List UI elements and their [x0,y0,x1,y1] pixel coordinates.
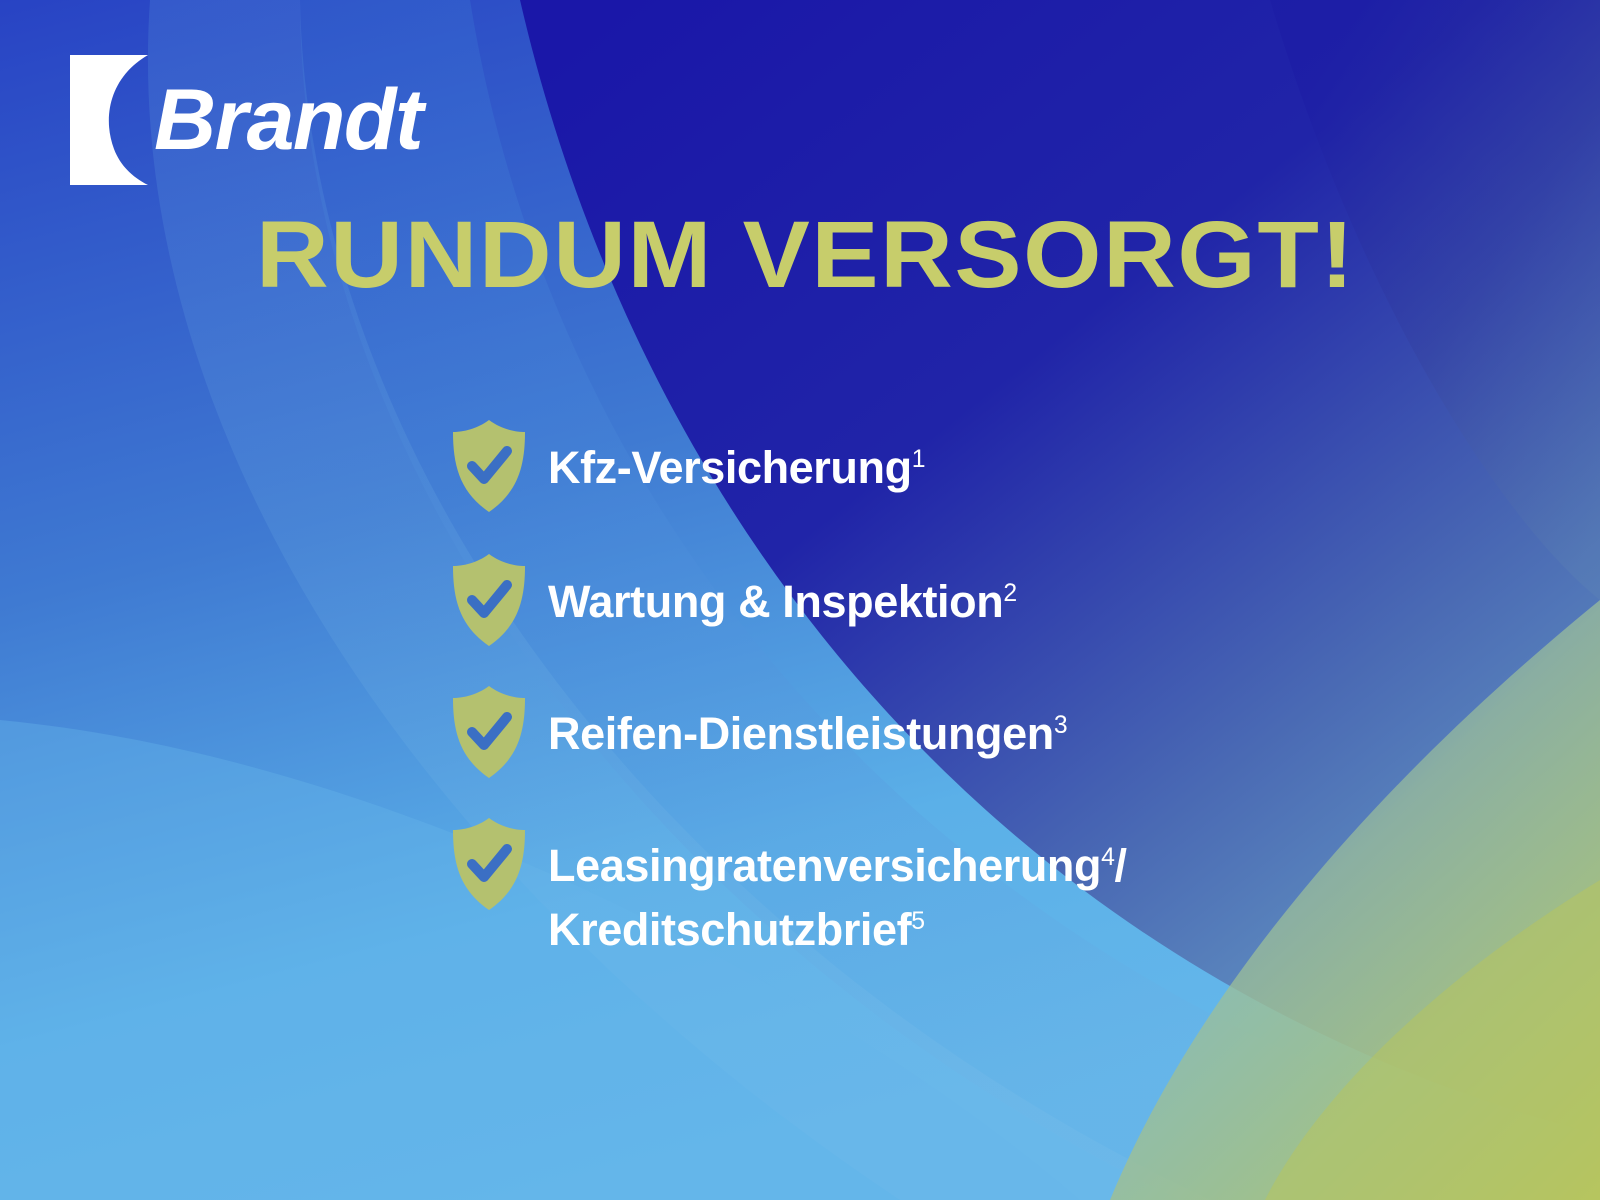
benefit-separator: / [1114,840,1126,891]
benefit-label-text: Wartung & Inspektion [548,576,1003,627]
benefit-label-text: Leasingratenversicherung [548,840,1101,891]
shield-check-icon [450,816,528,912]
footnote-marker: 1 [912,446,925,473]
benefit-label: Kfz-Versicherung1 [548,418,925,500]
footnote-marker: 5 [911,908,924,935]
list-item: Reifen-Dienstleistungen3 [450,684,1510,780]
footnote-marker: 2 [1003,580,1016,607]
benefit-list: Kfz-Versicherung1 Wartung & Inspektion2 … [450,418,1510,962]
benefit-label-text: Reifen-Dienstleistungen [548,708,1054,759]
footnote-marker: 4 [1101,844,1114,871]
benefit-label-text-line2: Kreditschutzbrief [548,904,911,955]
list-item: Leasingratenversicherung4/ Kreditschutzb… [450,816,1510,962]
brandt-bracket-mark [70,55,148,185]
brandt-logo[interactable]: Brandt [70,55,422,185]
shield-check-icon [450,684,528,780]
slide-canvas: Brandt RUNDUM VERSORGT! Kfz-Versicherung… [0,0,1600,1200]
benefit-label-text: Kfz-Versicherung [548,442,912,493]
page-title: RUNDUM VERSORGT! [256,206,1356,306]
list-item: Wartung & Inspektion2 [450,552,1510,648]
benefit-label: Wartung & Inspektion2 [548,552,1017,634]
benefit-label: Leasingratenversicherung4/ Kreditschutzb… [548,816,1510,962]
shield-check-icon [450,552,528,648]
benefit-label: Reifen-Dienstleistungen3 [548,684,1067,766]
footnote-marker: 3 [1054,712,1067,739]
logo-wordmark: Brandt [154,77,422,163]
shield-check-icon [450,418,528,514]
list-item: Kfz-Versicherung1 [450,418,1510,514]
